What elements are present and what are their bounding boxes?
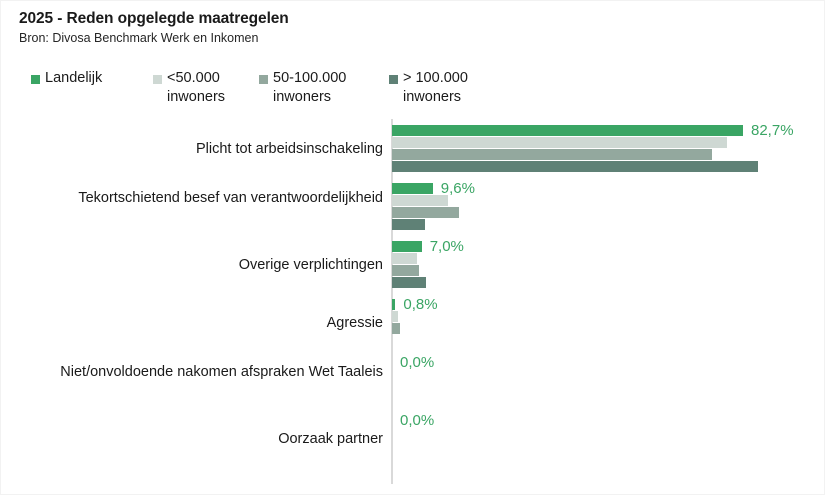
bar-2[interactable] bbox=[392, 207, 459, 218]
bar-1[interactable] bbox=[392, 253, 417, 264]
bar-set: 0,0% bbox=[392, 414, 822, 464]
bar-1[interactable] bbox=[392, 311, 398, 322]
category-label: Tekortschietend besef van verantwoordeli… bbox=[8, 189, 383, 207]
bar-group: Niet/onvoldoende nakomen afspraken Wet T… bbox=[1, 351, 825, 409]
bar-set: 0,8% bbox=[392, 298, 822, 348]
bar-set: 0,0% bbox=[392, 356, 822, 406]
bar-group: Overige verplichtingen7,0% bbox=[1, 235, 825, 293]
category-label: Agressie bbox=[8, 314, 383, 332]
legend-item-large[interactable]: > 100.000 inwoners bbox=[389, 69, 509, 107]
bar-group: Plicht tot arbeidsinschakeling82,7% bbox=[1, 119, 825, 177]
chart-container: 2025 - Reden opgelegde maatregelen Bron:… bbox=[0, 0, 825, 495]
bar-value-label: 82,7% bbox=[751, 122, 794, 140]
bar-0[interactable] bbox=[392, 299, 395, 310]
bar-value-label: 9,6% bbox=[441, 180, 475, 198]
bar-group: Agressie0,8% bbox=[1, 293, 825, 351]
bar-group: Oorzaak partner0,0% bbox=[1, 409, 825, 467]
category-label: Plicht tot arbeidsinschakeling bbox=[8, 140, 383, 158]
bar-3[interactable] bbox=[392, 277, 426, 288]
chart-subtitle: Bron: Divosa Benchmark Werk en Inkomen bbox=[19, 30, 619, 46]
bar-2[interactable] bbox=[392, 265, 419, 276]
bar-value-label: 0,0% bbox=[400, 354, 434, 372]
bar-0[interactable] bbox=[392, 183, 433, 194]
category-label: Oorzaak partner bbox=[8, 430, 383, 448]
bar-set: 7,0% bbox=[392, 240, 822, 290]
category-label: Niet/onvoldoende nakomen afspraken Wet T… bbox=[8, 363, 383, 381]
chart-header: 2025 - Reden opgelegde maatregelen Bron:… bbox=[19, 9, 619, 46]
legend-swatch-icon bbox=[31, 75, 40, 84]
bar-1[interactable] bbox=[392, 195, 448, 206]
legend-item-label: 50-100.000 inwoners bbox=[273, 69, 379, 107]
legend-swatch-icon bbox=[153, 75, 162, 84]
legend-item-label: > 100.000 inwoners bbox=[403, 69, 509, 107]
bar-3[interactable] bbox=[392, 219, 425, 230]
legend-swatch-icon bbox=[389, 75, 398, 84]
legend-item-label: <50.000 inwoners bbox=[167, 69, 253, 107]
bar-value-label: 7,0% bbox=[430, 238, 464, 256]
bar-3[interactable] bbox=[392, 161, 758, 172]
bar-2[interactable] bbox=[392, 149, 712, 160]
category-label: Overige verplichtingen bbox=[8, 256, 383, 274]
bar-value-label: 0,8% bbox=[403, 296, 437, 314]
legend-swatch-icon bbox=[259, 75, 268, 84]
bar-group: Tekortschietend besef van verantwoordeli… bbox=[1, 177, 825, 235]
bar-0[interactable] bbox=[392, 241, 422, 252]
bar-0[interactable] bbox=[392, 125, 743, 136]
legend-item-landelijk[interactable]: Landelijk bbox=[31, 69, 151, 88]
bar-1[interactable] bbox=[392, 137, 727, 148]
bar-value-label: 0,0% bbox=[400, 412, 434, 430]
legend-item-small[interactable]: <50.000 inwoners bbox=[153, 69, 253, 107]
legend-item-label: Landelijk bbox=[45, 69, 151, 88]
bar-2[interactable] bbox=[392, 323, 400, 334]
chart-title: 2025 - Reden opgelegde maatregelen bbox=[19, 9, 619, 28]
bar-set: 82,7% bbox=[392, 124, 822, 174]
chart-legend: Landelijk <50.000 inwoners 50-100.000 in… bbox=[31, 69, 501, 115]
plot-area: Plicht tot arbeidsinschakeling82,7%Tekor… bbox=[1, 119, 825, 487]
bar-set: 9,6% bbox=[392, 182, 822, 232]
legend-item-medium[interactable]: 50-100.000 inwoners bbox=[259, 69, 379, 107]
